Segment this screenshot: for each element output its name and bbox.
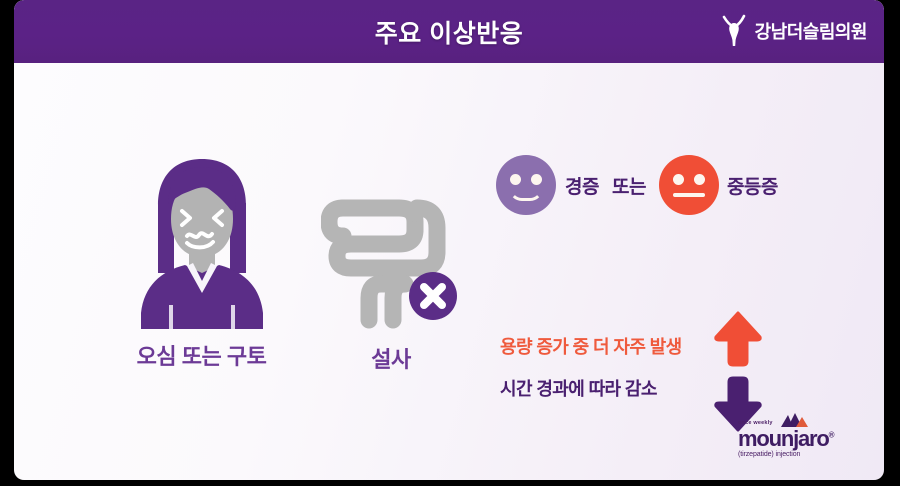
content-frame: 주요 이상반응 강남더슬림의원	[14, 0, 884, 480]
clinic-brand-name: 강남더슬림의원	[755, 18, 867, 44]
clinic-brand: 강남더슬림의원	[720, 14, 867, 48]
symptom-diarrhea: 설사	[306, 151, 476, 374]
nausea-icon-wrap	[109, 148, 294, 333]
product-name-text: mounjaro	[738, 426, 829, 451]
symptom-label-diarrhea: 설사	[306, 342, 476, 374]
face-eye-left	[673, 174, 684, 185]
intestine-icon	[321, 156, 461, 336]
severity-label-mild: 경증	[565, 172, 599, 199]
slide-header: 주요 이상반응 강남더슬림의원	[14, 0, 884, 63]
product-name: mounjaro®	[738, 427, 848, 450]
note-dose-increase: 용량 증가 중 더 자주 발생	[500, 333, 725, 359]
smiling-face-icon	[496, 155, 556, 215]
diarrhea-icon-wrap	[306, 151, 476, 336]
severity-row: 경증 또는 중등증	[496, 155, 778, 215]
severity-label-moderate: 중등증	[727, 172, 778, 199]
severity-conjunction: 또는	[612, 172, 646, 199]
neutral-face-icon	[659, 155, 719, 215]
slide-body: 오심 또는 구토	[14, 63, 884, 480]
face-mouth-smile	[509, 188, 543, 201]
nauseated-woman-icon	[127, 153, 277, 333]
notes-block: 용량 증가 중 더 자주 발생 시간 경과에 따라 감소	[500, 333, 725, 401]
product-subtitle: (tirzepatide) injection	[738, 451, 848, 458]
symptom-nausea-vomiting: 오심 또는 구토	[109, 148, 294, 371]
product-logo: once weekly mounjaro® (tirzepatide) inje…	[738, 412, 848, 458]
note-time-decrease: 시간 경과에 따라 감소	[500, 375, 725, 401]
symptom-label-nausea: 오심 또는 구토	[109, 339, 294, 371]
slide-root: 주요 이상반응 강남더슬림의원	[0, 0, 900, 486]
arrow-up-icon	[714, 311, 762, 367]
face-mouth-flat	[673, 193, 705, 197]
face-eye-right	[694, 174, 705, 185]
face-eye-left	[510, 174, 521, 185]
face-eye-right	[531, 174, 542, 185]
standing-figure-logo-icon	[720, 14, 748, 48]
product-trademark: ®	[829, 431, 834, 440]
